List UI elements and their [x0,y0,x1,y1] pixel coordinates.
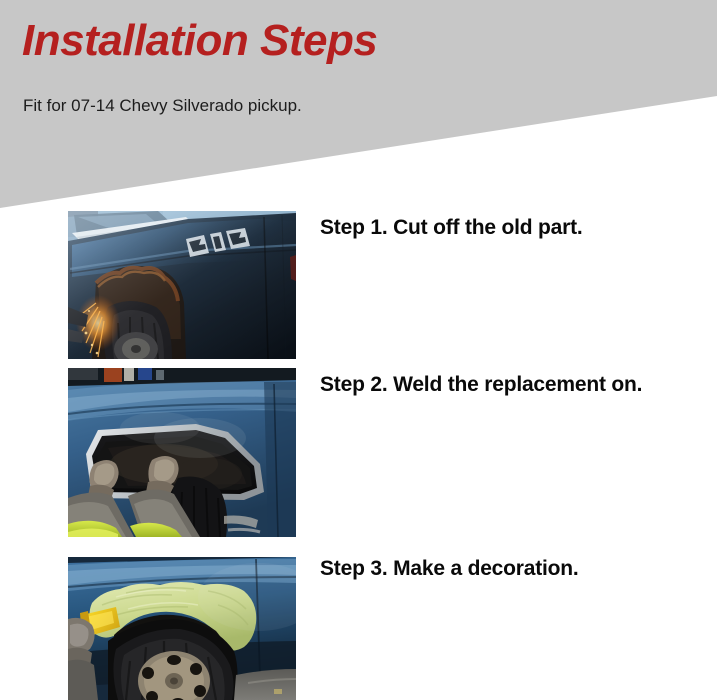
installation-steps-page: Installation Steps Fit for 07-14 Chevy S… [0,0,717,700]
step-caption-3: Step 3. Make a decoration. [320,557,579,581]
gloved-hand-left [68,618,95,667]
page-title: Installation Steps [22,18,377,64]
step-row-1: Step 1. Cut off the old part. [0,211,717,359]
photo-welding-replacement [68,368,296,537]
photo-cutting-old-fender-art [68,211,296,359]
photo-applying-body-filler-art [68,557,296,700]
step-row-2: Step 2. Weld the replacement on. [0,368,717,537]
photo-cutting-old-fender [68,211,296,359]
step-caption-2: Step 2. Weld the replacement on. [320,373,642,397]
step-caption-1: Step 1. Cut off the old part. [320,216,583,240]
step-row-3: Step 3. Make a decoration. [0,557,717,700]
photo-welding-replacement-art [68,368,296,537]
page-subtitle-fitment: Fit for 07-14 Chevy Silverado pickup. [23,96,302,116]
photo-applying-body-filler [68,557,296,700]
